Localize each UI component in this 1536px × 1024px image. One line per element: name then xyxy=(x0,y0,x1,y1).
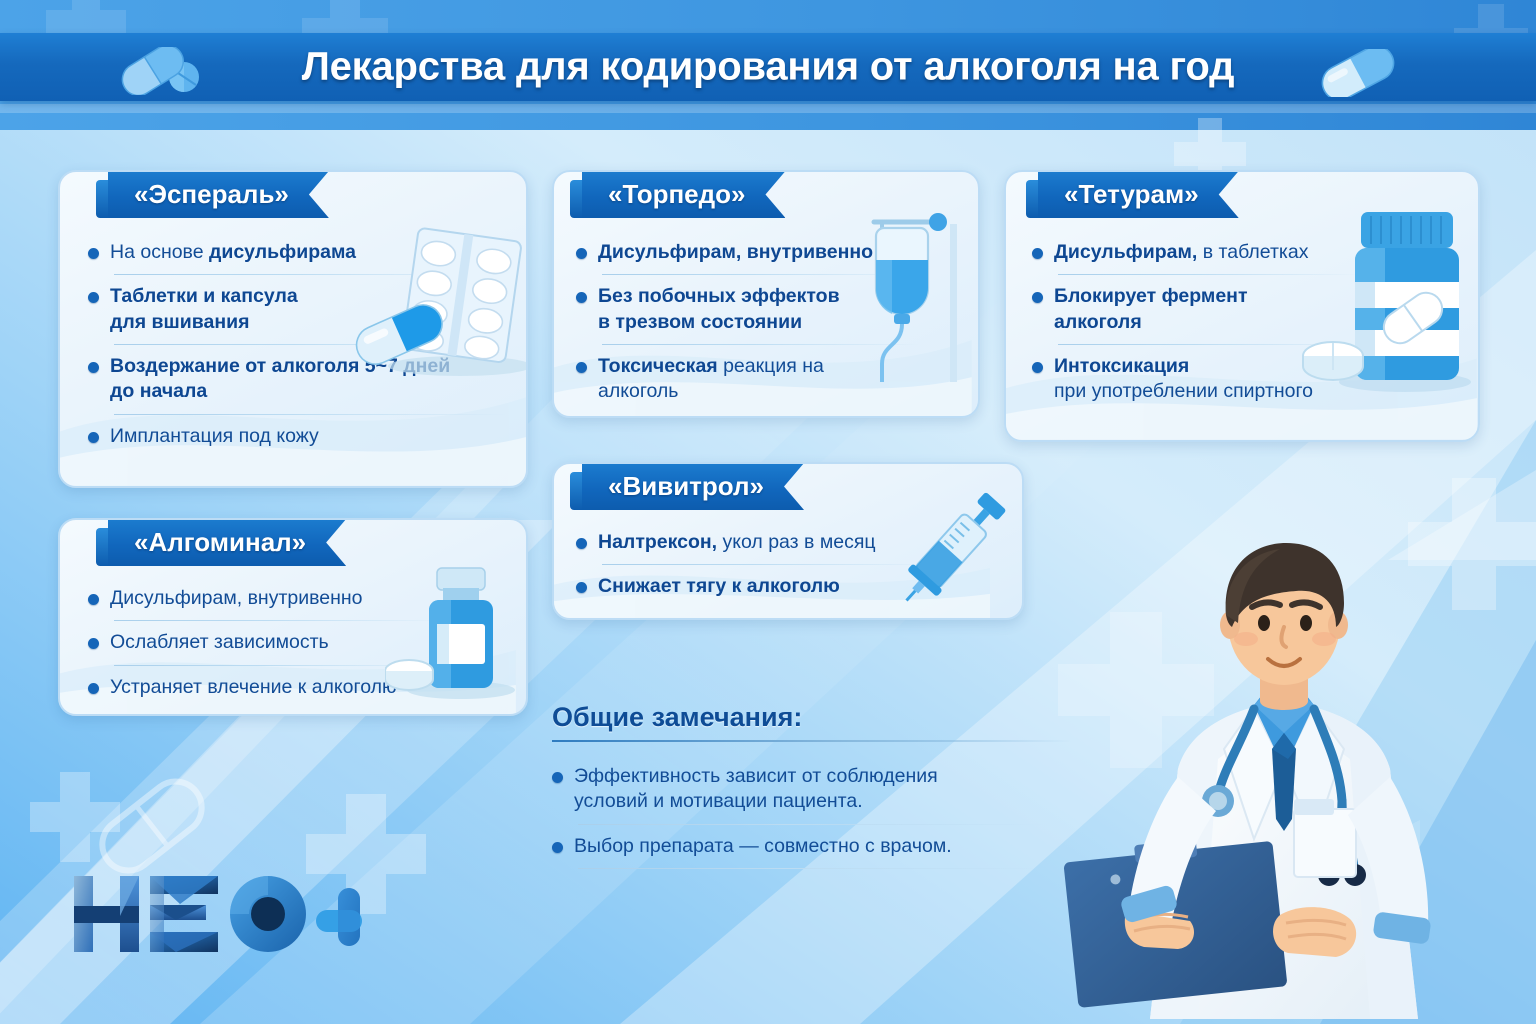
logo-neo-plus[interactable] xyxy=(72,872,362,961)
list-item: Дисульфирам, в таблетках xyxy=(1032,240,1332,265)
list-item: Устраняет влечение к алкоголю xyxy=(88,675,418,700)
bullet-text: Устраняет влечение к алкоголю xyxy=(110,675,397,700)
bullet-dot xyxy=(552,842,563,853)
bullet-list-torpedo: Дисульфирам, внутривенно Без побочных эф… xyxy=(576,240,876,405)
logo-letter-n xyxy=(74,876,139,952)
card-algominal: «Алгоминал» Дисульфирам, внутривенно Осл… xyxy=(58,518,528,716)
separator xyxy=(602,274,922,275)
page-title: Лекарства для кодирования от алкоголя на… xyxy=(0,45,1536,90)
list-item: Снижает тягу к алкоголю xyxy=(576,574,906,599)
bullet-text: На основе дисульфирама xyxy=(110,240,356,265)
bullet-dot xyxy=(576,292,587,303)
bullet-text: Дисульфирам, внутривенно xyxy=(598,240,873,265)
bullet-dot xyxy=(552,772,563,783)
general-notes-section: Общие замечания: Эффективность зависит о… xyxy=(552,702,1092,878)
bullet-text: Дисульфирам, внутривенно xyxy=(110,586,363,611)
list-item: Токсическая реакция на алкоголь xyxy=(576,354,876,405)
bullet-text: Выбор препарата — совместно с врачом. xyxy=(574,834,952,859)
bullet-dot xyxy=(88,362,99,373)
list-item: Выбор препарата — совместно с врачом. xyxy=(552,834,1092,859)
bullet-dot xyxy=(1032,292,1043,303)
list-item: Налтрексон, укол раз в месяц xyxy=(576,530,906,555)
separator xyxy=(1058,274,1358,275)
bullet-text: Налтрексон, укол раз в месяц xyxy=(598,530,876,555)
separator xyxy=(114,620,444,621)
card-torpedo: «Торпедо» Дисульфирам, внутривенно Без п… xyxy=(552,170,980,418)
list-item: Дисульфирам, внутривенно xyxy=(576,240,876,265)
separator xyxy=(602,344,922,345)
bullet-dot xyxy=(88,683,99,694)
separator xyxy=(114,665,444,666)
bullet-text: Имплантация под кожу xyxy=(110,424,319,449)
bullet-text: Дисульфирам, в таблетках xyxy=(1054,240,1308,265)
bullet-text: Эффективность зависит от соблюденияуслов… xyxy=(574,764,938,815)
bullet-dot xyxy=(576,582,587,593)
separator xyxy=(578,824,1048,825)
bullet-list-teturam: Дисульфирам, в таблетках Блокирует ферме… xyxy=(1032,240,1332,405)
bullet-text: Ослабляет зависимость xyxy=(110,630,329,655)
card-title-teturam: «Тетурам» xyxy=(1038,171,1239,218)
bullet-dot xyxy=(576,248,587,259)
separator xyxy=(114,414,508,415)
bullet-text: Таблетки и капсуладля вшивания xyxy=(110,284,298,335)
bullet-text: Без побочных эффектовв трезвом состоянии xyxy=(598,284,840,335)
bullet-text: Интоксикацияпри употреблении спиртного xyxy=(1054,354,1313,405)
notes-list: Эффективность зависит от соблюденияуслов… xyxy=(552,764,1092,869)
card-esperal: «Эспераль» xyxy=(58,170,528,488)
card-title-algominal: «Алгоминал» xyxy=(108,519,346,566)
separator xyxy=(602,564,932,565)
separator xyxy=(114,274,508,275)
logo-letter-o xyxy=(230,876,306,952)
list-item: Эффективность зависит от соблюденияуслов… xyxy=(552,764,1092,815)
bullet-dot xyxy=(88,292,99,303)
separator xyxy=(578,868,1048,869)
bullet-list-vivitrol: Налтрексон, укол раз в месяц Снижает тяг… xyxy=(576,530,906,600)
bullet-list-algominal: Дисульфирам, внутривенно Ослабляет завис… xyxy=(88,586,418,700)
list-item: Имплантация под кожу xyxy=(88,424,508,449)
list-item: Интоксикацияпри употреблении спиртного xyxy=(1032,354,1332,405)
card-teturam: «Тетурам» xyxy=(1004,170,1480,442)
card-title-esperal: «Эспераль» xyxy=(108,171,329,218)
list-item: Воздержание от алкоголя 5~7 днейдо начал… xyxy=(88,354,508,405)
card-vivitrol: «Вивитрол» Налтрекс xyxy=(552,462,1024,620)
notes-title: Общие замечания: xyxy=(552,702,1092,733)
list-item: Ослабляет зависимость xyxy=(88,630,418,655)
bullet-text: Снижает тягу к алкоголю xyxy=(598,574,840,599)
list-item: Дисульфирам, внутривенно xyxy=(88,586,418,611)
bullet-list-esperal: На основе дисульфирама Таблетки и капсул… xyxy=(88,240,508,449)
bullet-dot xyxy=(576,362,587,373)
logo-plus-icon xyxy=(316,888,362,946)
page-header: Лекарства для кодирования от алкоголя на… xyxy=(0,33,1536,101)
capsule-icon xyxy=(1310,49,1406,102)
bullet-dot xyxy=(88,638,99,649)
list-item: Без побочных эффектовв трезвом состоянии xyxy=(576,284,876,335)
logo-letter-e xyxy=(150,876,218,952)
bullet-dot xyxy=(1032,362,1043,373)
bullet-text: Токсическая реакция на алкоголь xyxy=(598,354,876,405)
card-title-vivitrol: «Вивитрол» xyxy=(582,463,804,510)
list-item: Блокирует ферменталкоголя xyxy=(1032,284,1332,335)
separator xyxy=(1058,344,1358,345)
separator xyxy=(114,344,508,345)
bullet-dot xyxy=(88,248,99,259)
notes-rule xyxy=(552,740,1072,742)
list-item: На основе дисульфирама xyxy=(88,240,508,265)
bullet-dot xyxy=(576,538,587,549)
bullet-dot xyxy=(88,432,99,443)
bullet-text: Воздержание от алкоголя 5~7 днейдо начал… xyxy=(110,354,450,405)
bullet-dot xyxy=(1032,248,1043,259)
list-item: Таблетки и капсуладля вшивания xyxy=(88,284,508,335)
bullet-dot xyxy=(88,594,99,605)
card-title-torpedo: «Торпедо» xyxy=(582,171,785,218)
bullet-text: Блокирует ферменталкоголя xyxy=(1054,284,1248,335)
